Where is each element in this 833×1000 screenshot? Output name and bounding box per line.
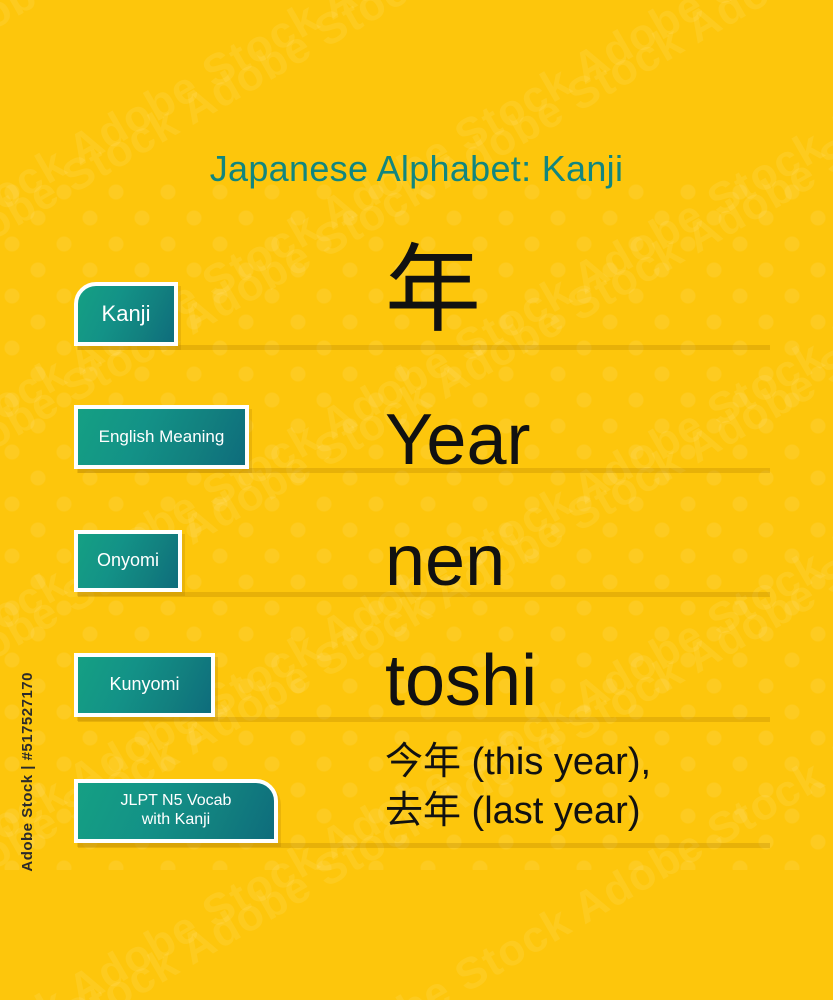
value-english-meaning: Year xyxy=(385,404,530,476)
watermark-row: Adobe Stock Adobe Stock Adobe Stock Adob… xyxy=(0,0,833,112)
watermark-row: Adobe Stock Adobe Stock Adobe Stock Adob… xyxy=(0,0,833,427)
value-kunyomi: toshi xyxy=(385,645,537,717)
value-jlpt-vocab: 今年 (this year), 去年 (last year) xyxy=(385,738,651,835)
label-chip-jlpt-vocab[interactable]: JLPT N5 Vocab with Kanji xyxy=(74,779,278,843)
watermark-row: Adobe Stock Adobe Stock Adobe Stock Adob… xyxy=(0,250,833,1000)
label-chip-kanji-text: Kanji xyxy=(102,301,151,327)
label-chip-onyomi-text: Onyomi xyxy=(97,550,159,571)
poster-canvas: Adobe Stock Adobe Stock Adobe Stock Adob… xyxy=(0,0,833,1000)
value-onyomi: nen xyxy=(385,525,505,597)
page-title: Japanese Alphabet: Kanji xyxy=(0,148,833,190)
value-jlpt-vocab-line2: 去年 (last year) xyxy=(385,787,651,836)
label-chip-english-meaning-text: English Meaning xyxy=(99,427,225,447)
label-chip-jlpt-vocab-line2: with Kanji xyxy=(142,811,210,830)
row-divider xyxy=(78,843,770,848)
label-chip-english-meaning[interactable]: English Meaning xyxy=(74,405,249,469)
row-divider xyxy=(78,345,770,350)
stock-credit-strip: Adobe Stock | #517527170 xyxy=(14,672,40,972)
watermark-row: Adobe Stock Adobe Stock Adobe Stock Adob… xyxy=(0,0,833,742)
value-jlpt-vocab-line1: 今年 (this year), xyxy=(385,738,651,787)
label-chip-kanji[interactable]: Kanji xyxy=(74,282,178,346)
label-chip-onyomi[interactable]: Onyomi xyxy=(74,530,182,592)
stock-credit-text: Adobe Stock | #517527170 xyxy=(19,672,36,872)
label-chip-kunyomi-text: Kunyomi xyxy=(109,674,179,695)
label-chip-kunyomi[interactable]: Kunyomi xyxy=(74,653,215,717)
value-kanji: 年 xyxy=(385,243,481,339)
label-chip-jlpt-vocab-line1: JLPT N5 Vocab xyxy=(121,792,232,811)
watermark-row: Adobe Stock Adobe Stock Adobe Stock Adob… xyxy=(0,0,833,7)
